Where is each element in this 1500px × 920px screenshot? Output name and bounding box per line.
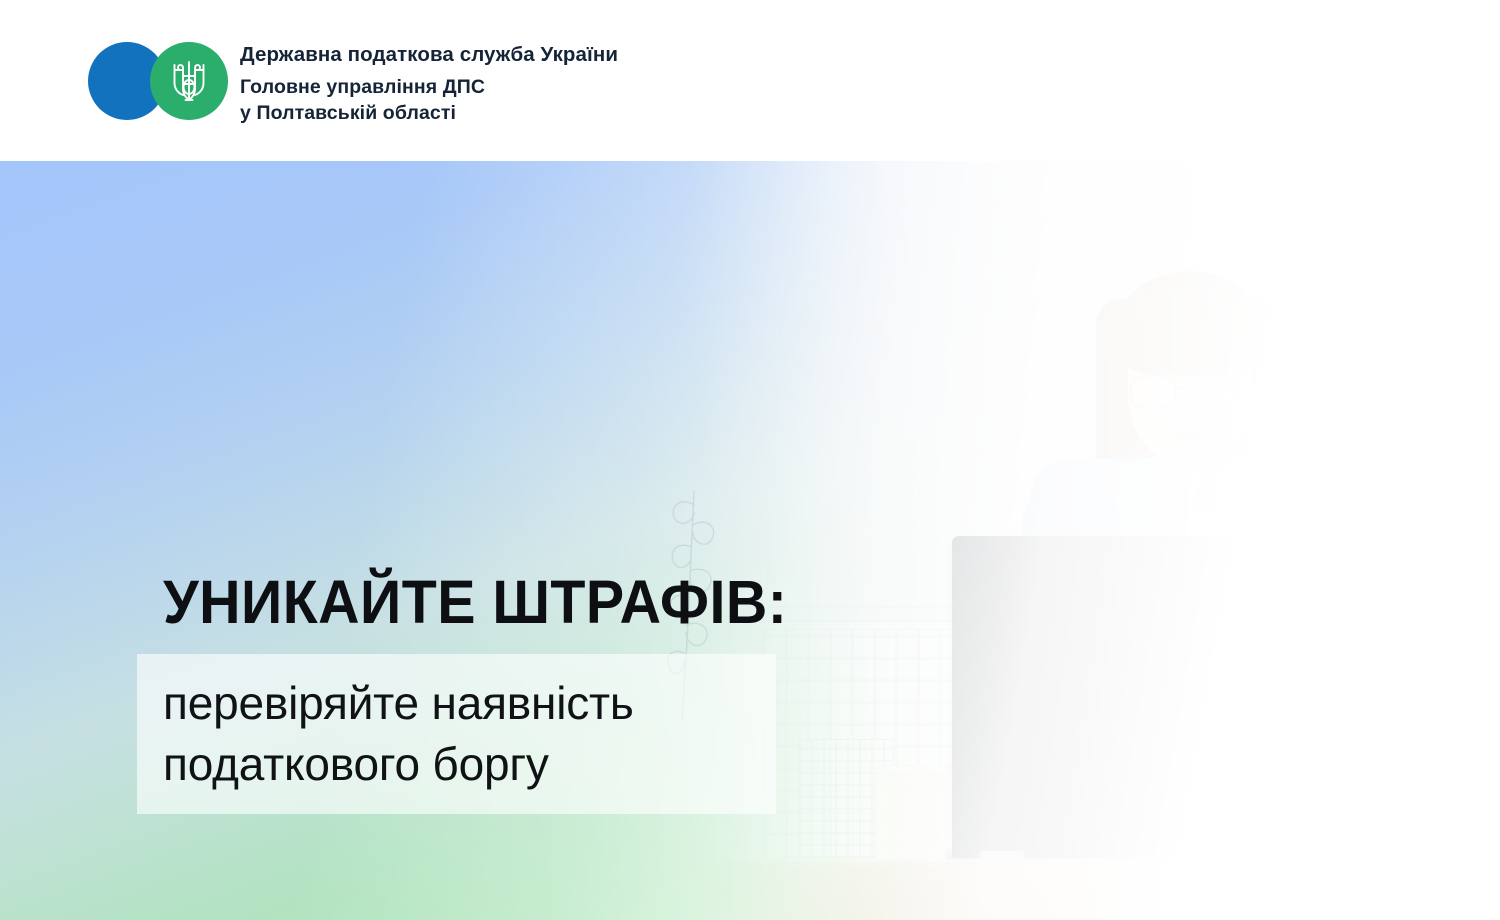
subtitle: перевіряйте наявність податкового боргу xyxy=(163,673,783,794)
dps-logo xyxy=(88,42,228,120)
ukraine-trident-icon xyxy=(168,56,210,106)
org-name-line-3: у Полтавській області xyxy=(240,101,618,127)
header-organization-text: Державна податкова служба України Головн… xyxy=(240,42,618,126)
headline: УНИКАЙТЕ ШТРАФІВ: xyxy=(163,572,787,633)
promotional-poster: Державна податкова служба України Головн… xyxy=(0,0,1500,920)
hero-section: УНИКАЙТЕ ШТРАФІВ: перевіряйте наявність … xyxy=(0,161,1500,920)
org-name-line-1: Державна податкова служба України xyxy=(240,42,618,68)
header-band: Державна податкова служба України Головн… xyxy=(0,0,1500,161)
org-name-line-2: Головне управління ДПС xyxy=(240,75,618,101)
